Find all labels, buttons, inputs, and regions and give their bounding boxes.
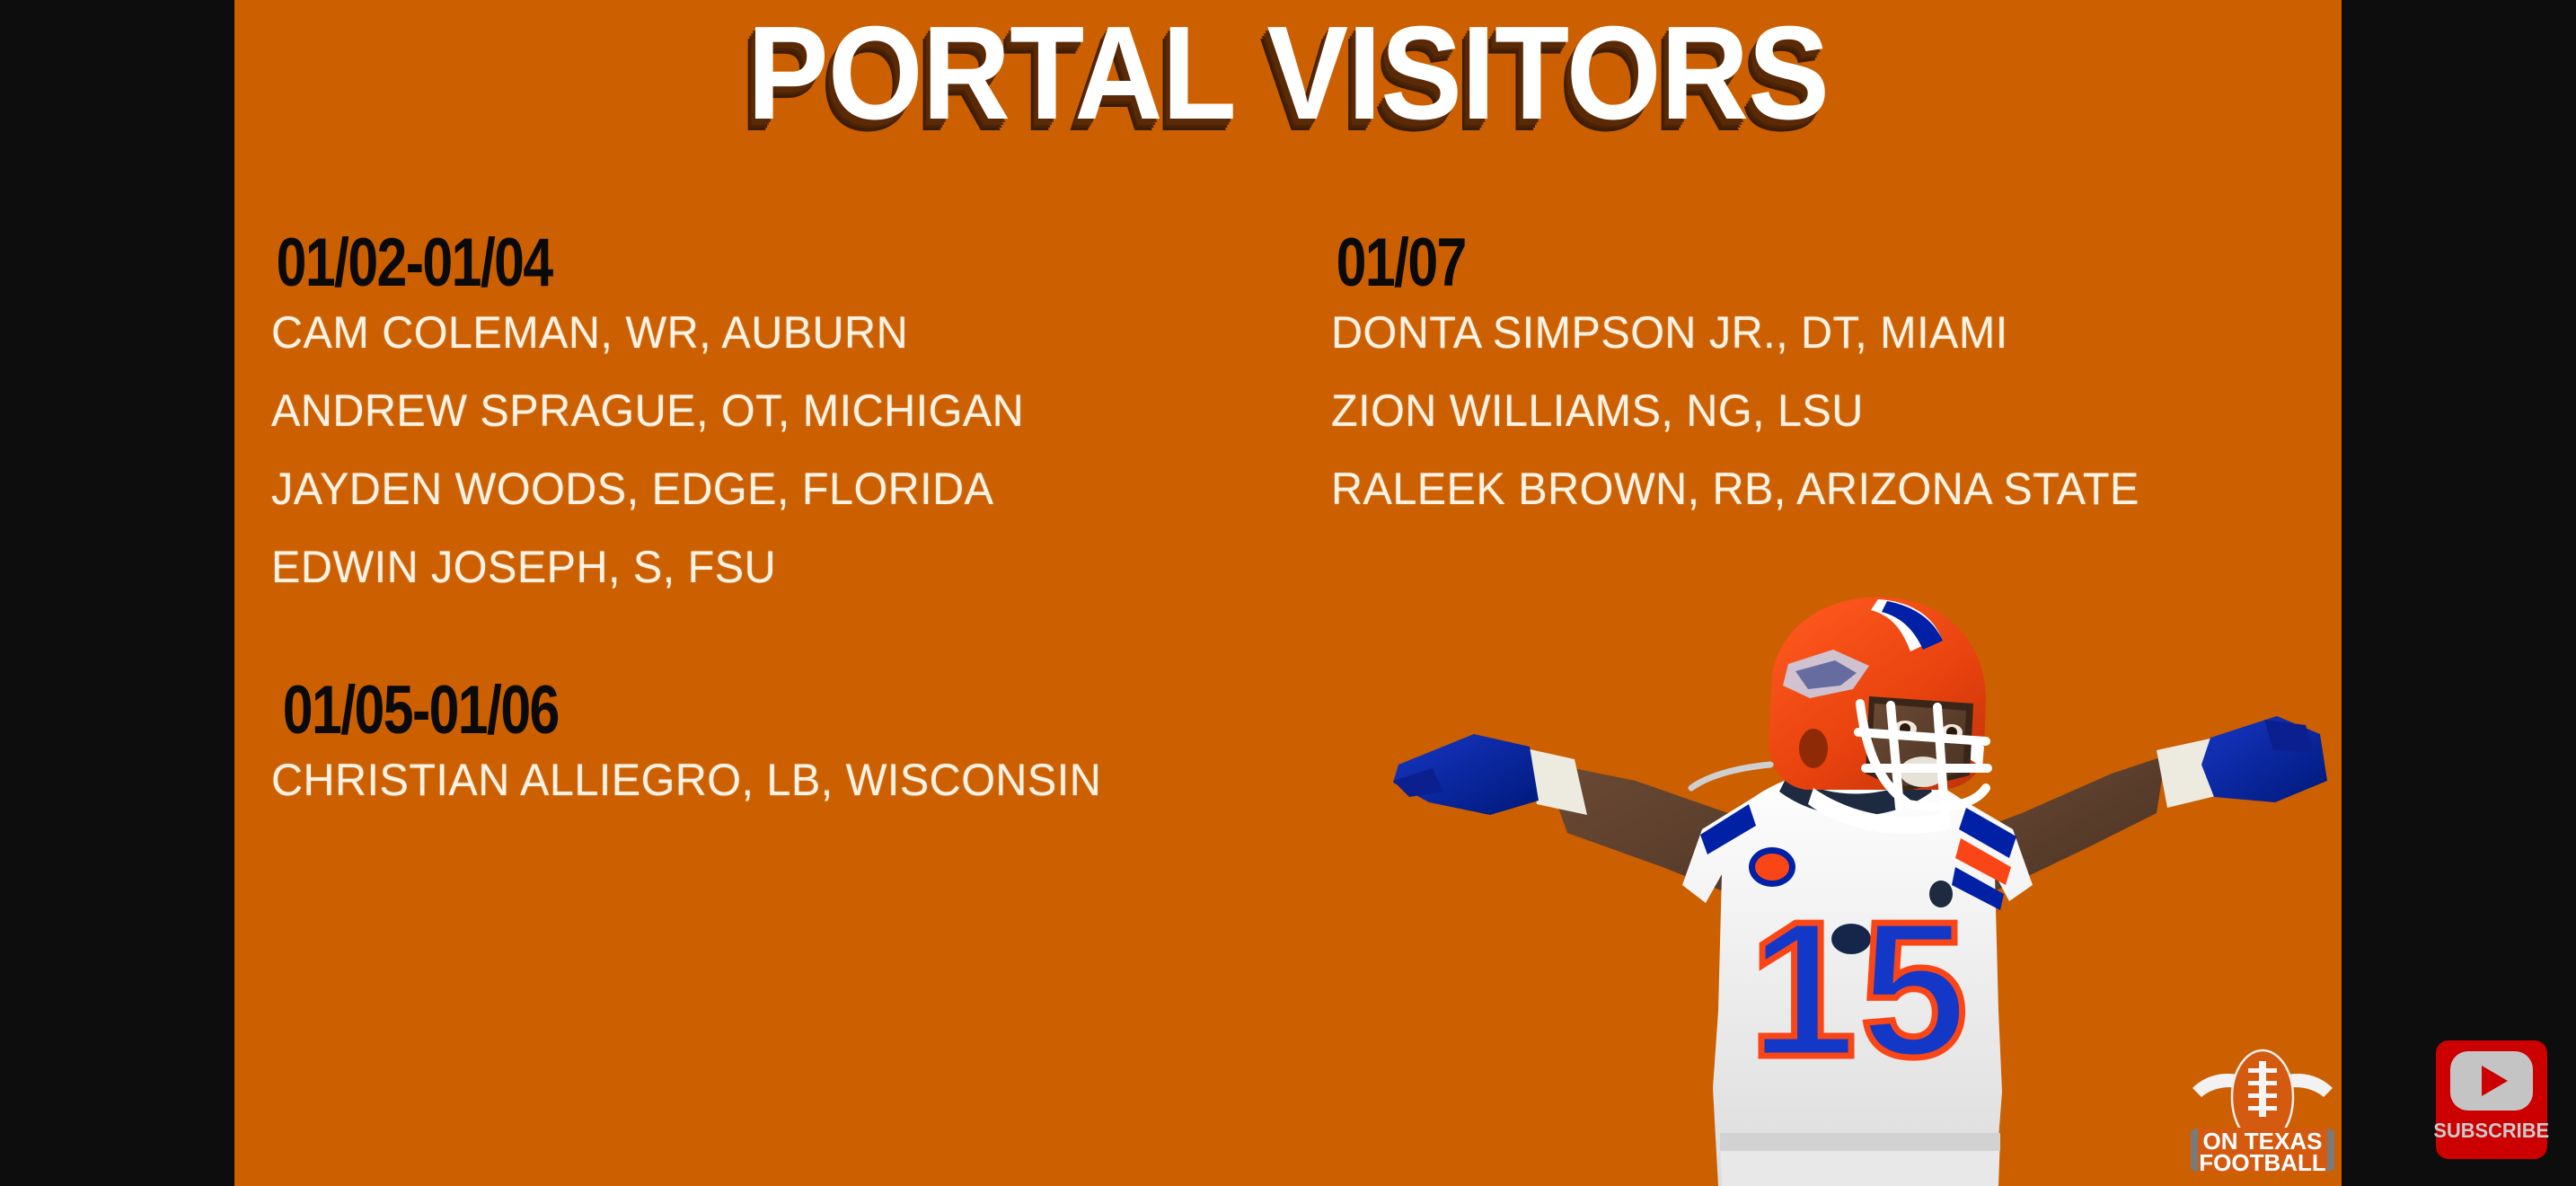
subscribe-button[interactable]: SUBSCRIBE xyxy=(2436,1040,2547,1159)
date-heading-1: 01/02-01/04 xyxy=(271,229,1054,297)
video-frame: PORTAL VISITORS 01/02-01/04 CAM COLEMAN,… xyxy=(0,0,2576,1186)
letterbox-right xyxy=(2342,0,2576,1186)
on-texas-football-logo: ON TEXAS FOOTBALL xyxy=(2182,1038,2342,1177)
roster-list-2: CHRISTIAN ALLIEGRO, LB, WISCONSIN xyxy=(271,757,1250,802)
youtube-play-icon xyxy=(2450,1051,2533,1111)
logo-line-2: FOOTBALL xyxy=(2199,1149,2326,1176)
section-spacer xyxy=(271,623,1250,677)
list-item: CHRISTIAN ALLIEGRO, LB, WISCONSIN xyxy=(271,757,1221,802)
letterbox-left xyxy=(0,0,234,1186)
right-column: 01/07 DONTA SIMPSON JR., DT, MIAMI ZION … xyxy=(1331,229,2310,544)
list-item: RALEEK BROWN, RB, ARIZONA STATE xyxy=(1331,466,2280,511)
list-item: DONTA SIMPSON JR., DT, MIAMI xyxy=(1331,310,2280,355)
list-item: EDWIN JOSEPH, S, FSU xyxy=(271,544,1221,589)
page-title: PORTAL VISITORS xyxy=(319,7,2257,140)
left-column: 01/02-01/04 CAM COLEMAN, WR, AUBURN ANDR… xyxy=(271,229,1250,836)
subscribe-label: SUBSCRIBE xyxy=(2434,1119,2550,1143)
roster-list-3: DONTA SIMPSON JR., DT, MIAMI ZION WILLIA… xyxy=(1331,310,2310,511)
graphic-canvas: PORTAL VISITORS 01/02-01/04 CAM COLEMAN,… xyxy=(234,0,2342,1186)
list-item: CAM COLEMAN, WR, AUBURN xyxy=(271,310,1221,355)
list-item: JAYDEN WOODS, EDGE, FLORIDA xyxy=(271,466,1221,511)
list-item: ZION WILLIAMS, NG, LSU xyxy=(1331,388,2280,433)
svg-text:15: 15 xyxy=(1749,881,1971,1097)
roster-list-1: CAM COLEMAN, WR, AUBURN ANDREW SPRAGUE, … xyxy=(271,310,1250,589)
play-triangle-icon xyxy=(2482,1066,2508,1096)
date-heading-2: 01/05-01/06 xyxy=(271,677,1054,745)
list-item: ANDREW SPRAGUE, OT, MICHIGAN xyxy=(271,388,1221,433)
date-heading-3: 01/07 xyxy=(1331,229,2114,297)
